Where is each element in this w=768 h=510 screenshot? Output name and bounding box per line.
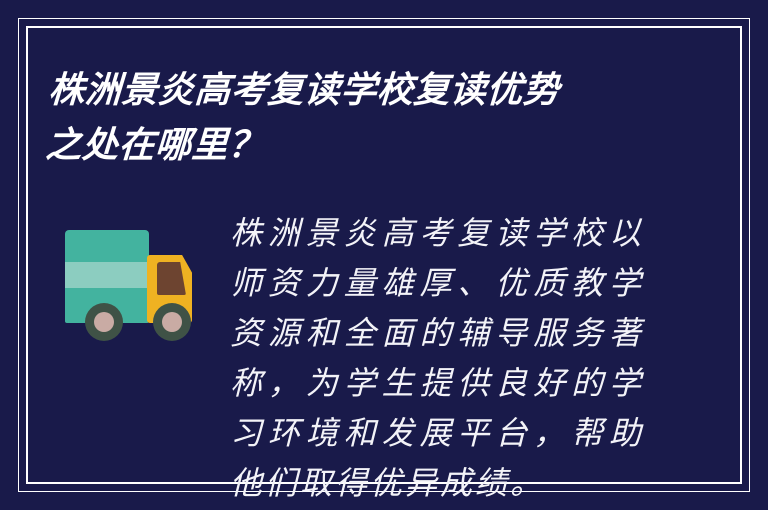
body-paragraph: 株洲景炎高考复读学校以师资力量雄厚、优质教学资源和全面的辅导服务著称，为学生提供… [230,208,644,508]
page-title: 株洲景炎高考复读学校复读优势 之处在哪里？ [44,62,650,172]
delivery-truck-icon [58,222,204,342]
truck-rear-wheel [85,303,123,341]
truck-front-wheel [153,303,191,341]
truck-cargo-stripe [65,262,149,288]
poster-canvas: 株洲景炎高考复读学校复读优势 之处在哪里？ 株洲景炎高考复读学校以师资力量雄厚、… [0,0,768,510]
